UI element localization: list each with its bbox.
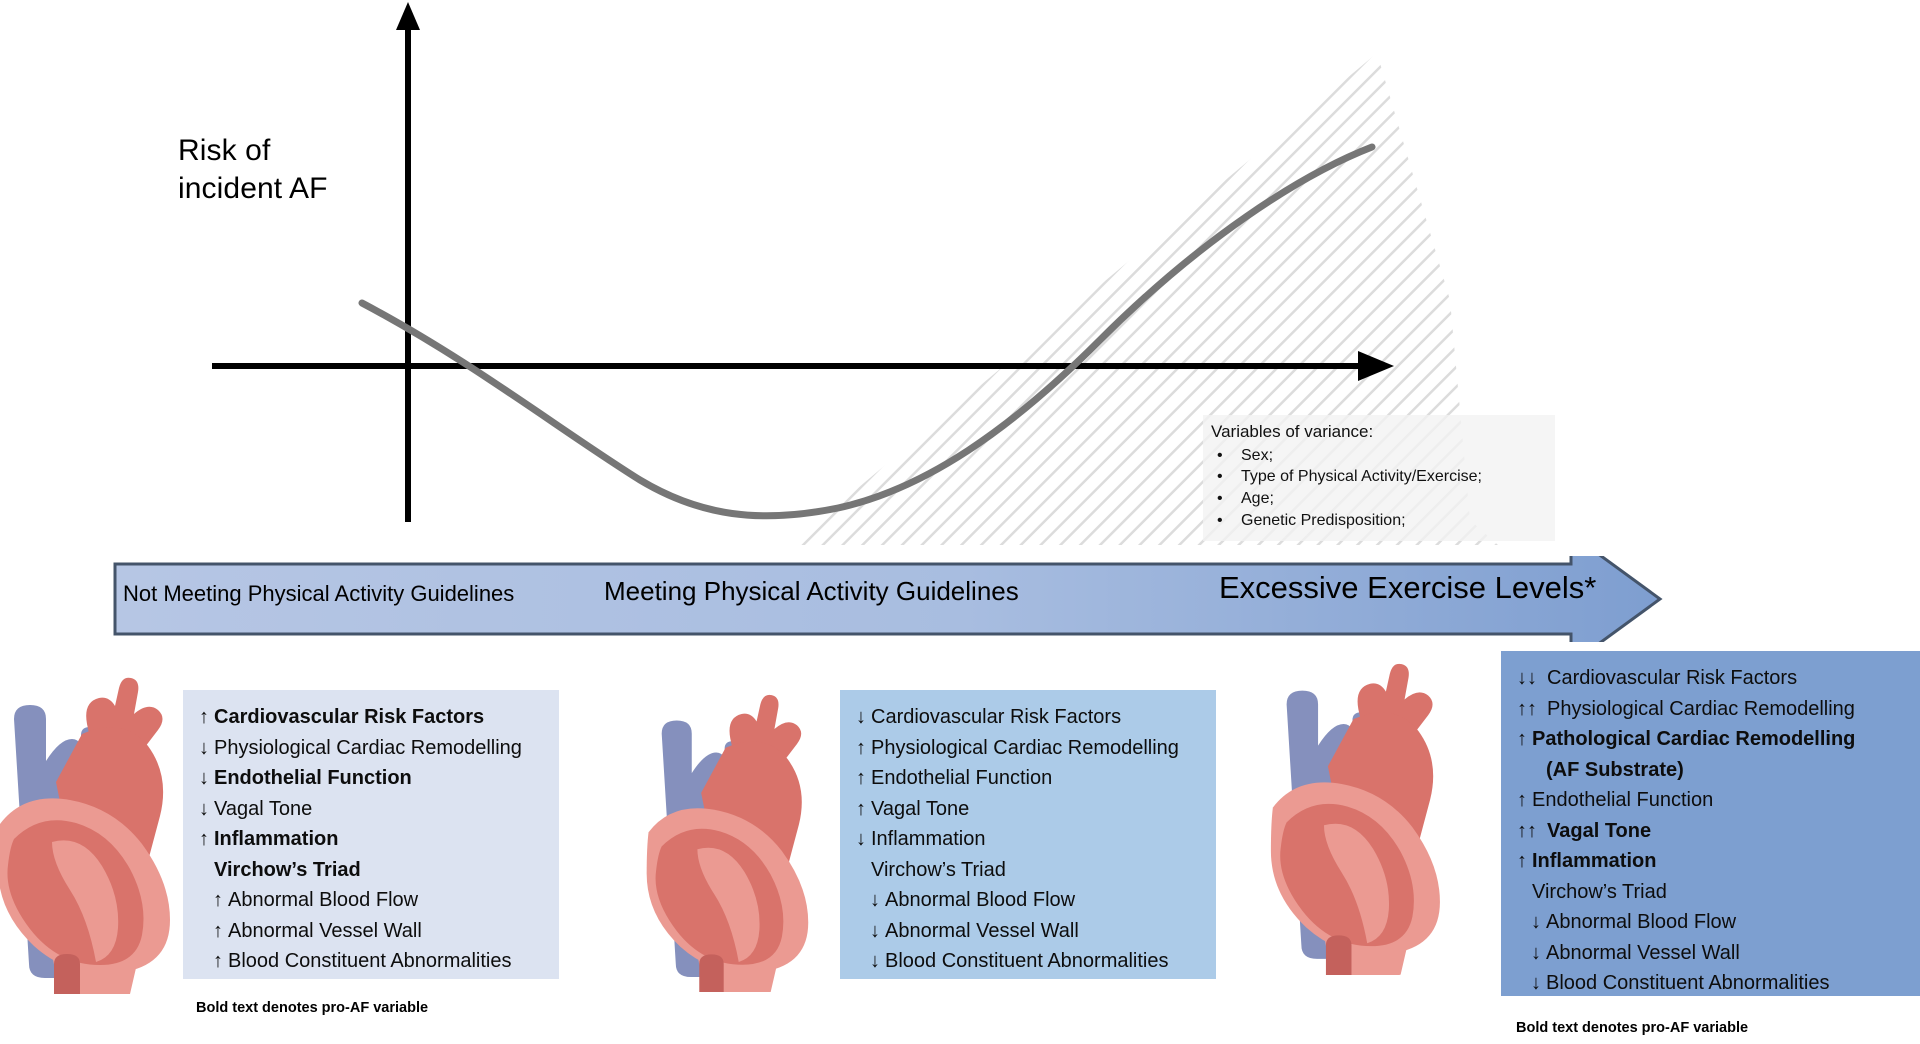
down-arrow-icon: ↓ — [870, 916, 885, 947]
figure-canvas: Risk of incident AF Variables of varianc… — [0, 0, 1920, 1044]
down-arrow-icon: ↓ — [856, 702, 871, 733]
effect-row: ↑Abnormal Blood Flow — [199, 885, 545, 916]
up-arrow-icon: ↑ — [1517, 846, 1532, 877]
up-arrow-icon: ↑ — [199, 702, 214, 733]
heart-illustration — [641, 682, 859, 992]
effect-label: Blood Constituent Abnormalities — [1546, 972, 1830, 994]
effect-label: Virchow’s Triad — [214, 859, 361, 881]
down-arrow-icon: ↓ — [1531, 907, 1546, 938]
effect-label: Blood Constituent Abnormalities — [228, 950, 512, 972]
effect-label: Endothelial Function — [871, 767, 1052, 789]
effect-row: ↑↑Physiological Cardiac Remodelling — [1517, 694, 1906, 725]
band-label-meeting: Meeting Physical Activity Guidelines — [604, 576, 1019, 607]
effect-label: Physiological Cardiac Remodelling — [214, 737, 522, 759]
effect-label: Vagal Tone — [1547, 820, 1651, 842]
effect-row: ↓Abnormal Vessel Wall — [856, 916, 1202, 947]
down-arrow-icon: ↓ — [870, 885, 885, 916]
effect-label: Endothelial Function — [214, 767, 412, 789]
band-label-excessive: Excessive Exercise Levels* — [1219, 570, 1596, 606]
effect-label: Virchow’s Triad — [871, 859, 1006, 881]
effect-row: Virchow’s Triad — [856, 855, 1202, 886]
effect-row: ↓Inflammation — [856, 824, 1202, 855]
effect-label: Abnormal Blood Flow — [1546, 911, 1736, 933]
effect-label: Abnormal Vessel Wall — [885, 920, 1079, 942]
y-axis-arrowhead — [396, 2, 420, 30]
effect-row: ↑Abnormal Vessel Wall — [199, 916, 545, 947]
up-arrow-icon: ↑ — [213, 946, 228, 977]
effect-row: ↑Inflammation — [1517, 846, 1906, 877]
effect-label: Vagal Tone — [871, 798, 969, 820]
down-arrow-icon: ↓ — [856, 824, 871, 855]
effect-label: Abnormal Blood Flow — [885, 889, 1075, 911]
effect-label: Blood Constituent Abnormalities — [885, 950, 1169, 972]
effect-label: Abnormal Blood Flow — [228, 889, 418, 911]
effect-row: ↑Physiological Cardiac Remodelling — [856, 733, 1202, 764]
up-arrow-icon: ↑↑ — [1517, 694, 1547, 725]
effect-label: Abnormal Vessel Wall — [228, 920, 422, 942]
effect-label: Pathological Cardiac Remodelling — [1532, 728, 1855, 750]
effect-row: Virchow’s Triad — [1517, 877, 1906, 908]
effect-label: Cardiovascular Risk Factors — [214, 706, 484, 728]
effect-row: ↓Abnormal Blood Flow — [1517, 907, 1906, 938]
effect-row: ↑Inflammation — [199, 824, 545, 855]
bold-legend-note: Bold text denotes pro-AF variable — [196, 1000, 428, 1016]
up-arrow-icon: ↑ — [199, 824, 214, 855]
down-arrow-icon: ↓ — [1531, 938, 1546, 969]
up-arrow-icon: ↑ — [1517, 724, 1532, 755]
effects-box-meeting: ↓Cardiovascular Risk Factors↑Physiologic… — [840, 690, 1216, 979]
up-arrow-icon: ↑ — [213, 916, 228, 947]
effect-row: ↑Blood Constituent Abnormalities — [199, 946, 545, 977]
heart-descending-aorta — [699, 954, 723, 992]
effect-label: Endothelial Function — [1532, 789, 1713, 811]
effect-label: Inflammation — [871, 828, 986, 850]
variance-note-item: Type of Physical Activity/Exercise; — [1211, 466, 1547, 488]
effect-label: Physiological Cardiac Remodelling — [871, 737, 1179, 759]
y-axis-title-line-2: incident AF — [178, 170, 418, 208]
down-arrow-icon: ↓ — [199, 763, 214, 794]
effect-row: ↓Physiological Cardiac Remodelling — [199, 733, 545, 764]
effect-label: Cardiovascular Risk Factors — [871, 706, 1121, 728]
variance-note-item: Genetic Predisposition; — [1211, 510, 1547, 532]
effect-label: Cardiovascular Risk Factors — [1547, 667, 1797, 689]
variables-of-variance-note: Variables of variance: Sex; Type of Phys… — [1203, 415, 1555, 541]
effect-row: (AF Substrate) — [1517, 755, 1906, 786]
down-arrow-icon: ↓ — [199, 794, 214, 825]
down-arrow-icon: ↓↓ — [1517, 663, 1547, 694]
heart-descending-aorta — [1326, 935, 1352, 975]
effect-row: ↑Pathological Cardiac Remodelling — [1517, 724, 1906, 755]
y-axis-title-line-1: Risk of — [178, 132, 418, 170]
variance-note-title: Variables of variance: — [1211, 421, 1547, 444]
down-arrow-icon: ↓ — [1531, 968, 1546, 999]
effect-row: ↓Abnormal Vessel Wall — [1517, 938, 1906, 969]
effect-row: ↓↓Cardiovascular Risk Factors — [1517, 663, 1906, 694]
effect-label: Inflammation — [1532, 850, 1656, 872]
down-arrow-icon: ↓ — [199, 733, 214, 764]
effect-row: ↑Endothelial Function — [1517, 785, 1906, 816]
band-label-not-meeting: Not Meeting Physical Activity Guidelines — [123, 581, 514, 607]
effects-box-not-meeting: ↑Cardiovascular Risk Factors↓Physiologic… — [183, 690, 559, 979]
down-arrow-icon: ↓ — [870, 946, 885, 977]
effect-label: (AF Substrate) — [1546, 759, 1684, 781]
effect-row: ↓Endothelial Function — [199, 763, 545, 794]
effect-row: ↓Blood Constituent Abnormalities — [856, 946, 1202, 977]
heart-illustration — [1265, 650, 1493, 975]
effect-row: ↓Blood Constituent Abnormalities — [1517, 968, 1906, 999]
variance-note-list: Sex; Type of Physical Activity/Exercise;… — [1211, 445, 1547, 532]
y-axis-title: Risk of incident AF — [178, 132, 418, 209]
effect-row: Virchow’s Triad — [199, 855, 545, 886]
effect-row: ↑Vagal Tone — [856, 794, 1202, 825]
effect-label: Virchow’s Triad — [1532, 881, 1667, 903]
effects-box-excessive: ↓↓Cardiovascular Risk Factors↑↑Physiolog… — [1501, 651, 1920, 996]
variance-note-item: Age; — [1211, 488, 1547, 510]
heart-descending-aorta — [54, 954, 80, 994]
up-arrow-icon: ↑ — [856, 733, 871, 764]
effect-row: ↓Abnormal Blood Flow — [856, 885, 1202, 916]
effect-row: ↑Endothelial Function — [856, 763, 1202, 794]
effect-row: ↓Cardiovascular Risk Factors — [856, 702, 1202, 733]
effect-label: Vagal Tone — [214, 798, 312, 820]
up-arrow-icon: ↑↑ — [1517, 816, 1547, 847]
bold-legend-note: Bold text denotes pro-AF variable — [1516, 1020, 1748, 1036]
variance-note-item: Sex; — [1211, 445, 1547, 467]
effect-label: Abnormal Vessel Wall — [1546, 942, 1740, 964]
effect-row: ↑↑Vagal Tone — [1517, 816, 1906, 847]
up-arrow-icon: ↑ — [1517, 785, 1532, 816]
effect-label: Inflammation — [214, 828, 338, 850]
effect-label: Physiological Cardiac Remodelling — [1547, 698, 1855, 720]
up-arrow-icon: ↑ — [856, 794, 871, 825]
effect-row: ↑Cardiovascular Risk Factors — [199, 702, 545, 733]
effect-row: ↓Vagal Tone — [199, 794, 545, 825]
up-arrow-icon: ↑ — [856, 763, 871, 794]
up-arrow-icon: ↑ — [213, 885, 228, 916]
